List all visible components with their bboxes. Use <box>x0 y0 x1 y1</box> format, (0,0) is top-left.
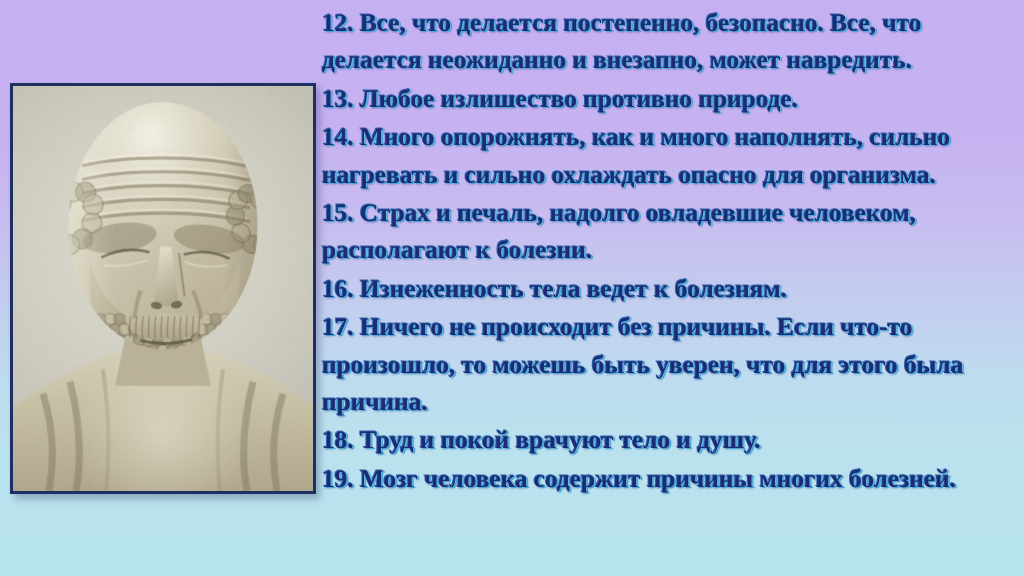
quote-text: Много опорожнять, как и много наполнять,… <box>322 122 950 188</box>
quote-number: 17. <box>322 312 354 341</box>
quote-number: 18. <box>322 425 354 454</box>
quote-text: Изнеженность тела ведет к болезням. <box>360 274 787 303</box>
portrait-frame <box>10 83 316 494</box>
quote-number: 13. <box>322 84 354 113</box>
quote-text: Труд и покой врачуют тело и душу. <box>360 425 761 454</box>
list-item: 18. Труд и покой врачуют тело и душу. <box>322 421 1022 458</box>
quote-number: 14. <box>322 122 354 151</box>
presentation-slide: 12. Все, что делается постепенно, безопа… <box>0 0 1024 576</box>
list-item: 19. Мозг человека содержит причины многи… <box>322 460 1022 497</box>
quote-number: 19. <box>322 464 354 493</box>
quote-list: 12. Все, что делается постепенно, безопа… <box>322 4 1022 574</box>
hippocrates-bust-photo <box>13 86 313 491</box>
list-item: 17. Ничего не происходит без причины. Ес… <box>322 308 1022 420</box>
quote-text: Страх и печаль, надолго овладевшие челов… <box>322 198 916 264</box>
list-item: 16. Изнеженность тела ведет к болезням. <box>322 270 1022 307</box>
list-item: 12. Все, что делается постепенно, безопа… <box>322 4 1022 79</box>
quote-number: 12. <box>322 8 354 37</box>
quote-number: 15. <box>322 198 354 227</box>
quote-text: Все, что делается постепенно, безопасно.… <box>322 8 921 74</box>
quote-number: 16. <box>322 274 354 303</box>
quote-text: Ничего не происходит без причины. Если ч… <box>322 312 963 416</box>
list-item: 13. Любое излишество противно природе. <box>322 80 1022 117</box>
list-item: 15. Страх и печаль, надолго овладевшие ч… <box>322 194 1022 269</box>
quote-text: Мозг человека содержит причины многих бо… <box>360 464 956 493</box>
list-item: 14. Много опорожнять, как и много наполн… <box>322 118 1022 193</box>
quote-text: Любое излишество противно природе. <box>360 84 798 113</box>
